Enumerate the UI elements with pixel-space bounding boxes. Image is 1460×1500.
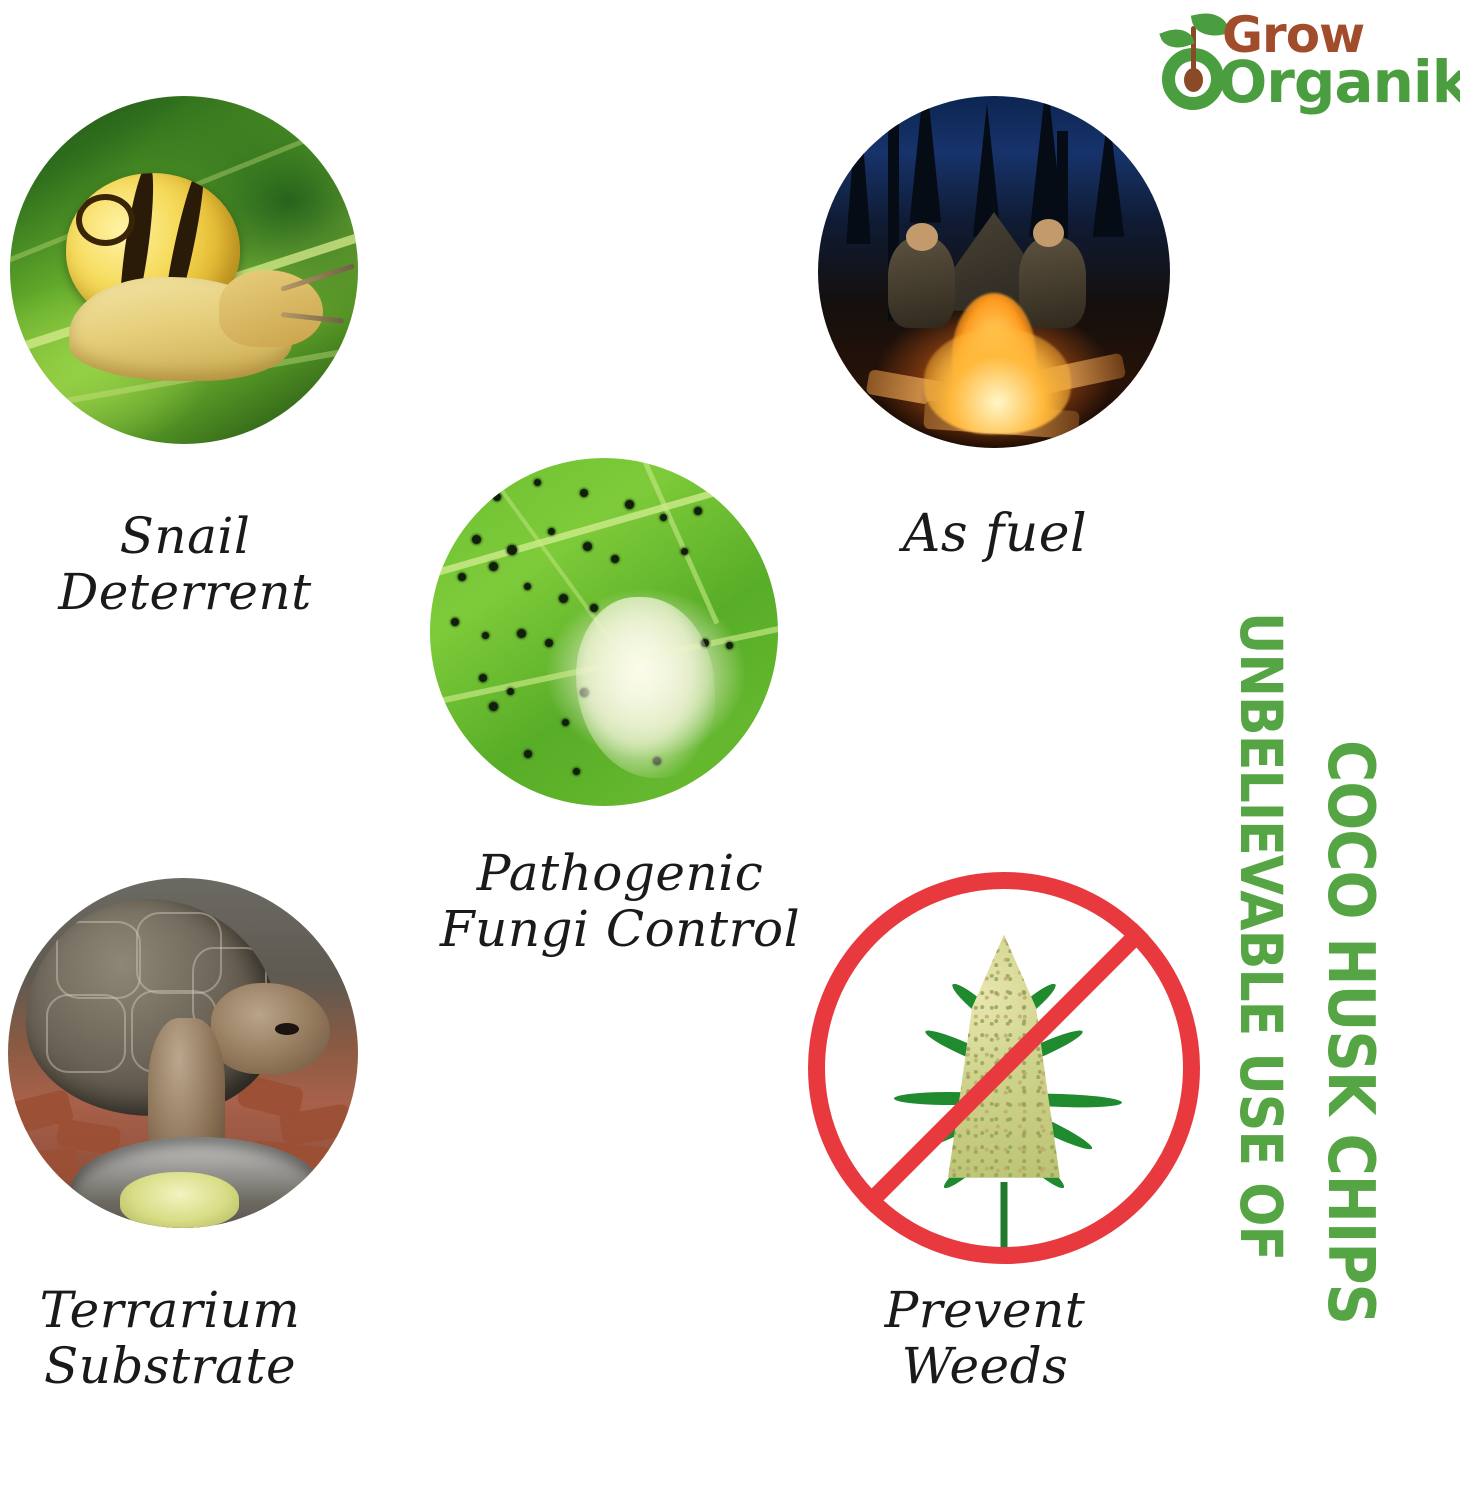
lettuce-food-shape [120,1172,239,1228]
campfire-camping-photo [818,96,1170,448]
tortoise-eye-shape [275,1023,299,1035]
no-weeds-prohibition-icon [808,872,1200,1264]
fungal-spot-shape [517,629,526,638]
fungal-spot-shape [451,618,459,626]
fungal-spot-shape [489,702,498,711]
caption-pathogenic-fungi-control: Pathogenic Fungi Control [420,845,820,957]
tortoise-on-coco-chips-photo [8,878,358,1228]
fungal-spot-shape [493,493,501,501]
infographic-page: { "brand": { "logo_word_1": "Grow", "log… [0,0,1460,1500]
shell-scute-shape [46,994,127,1072]
logo-word-organiks: Organiks [1218,48,1460,116]
banner-line-coco-husk-chips: COCO HUSK CHIPS [1318,740,1382,1324]
camper-head-shape [906,223,938,251]
logo-seed-shape [1184,68,1203,92]
fungal-spot-shape [625,500,634,509]
fungal-spot-shape [559,594,568,603]
fungal-spot-shape [660,514,667,521]
caption-prevent-weeds: Prevent Weeds [820,1282,1150,1394]
fungal-spot-shape [507,545,517,555]
fungal-spot-shape [507,688,514,695]
shell-scute-shape [56,921,142,999]
fungal-spot-shape [580,489,588,497]
fungal-spot-shape [573,768,580,775]
fungal-spot-shape [545,639,553,647]
shell-spiral-shape [76,194,135,246]
banner-line-unbelievable-use-of: UNBELIEVABLE USE OF [1232,612,1290,1260]
caption-terrarium-substrate: Terrarium Substrate [0,1282,340,1394]
brand-logo: Grow Organiks [1160,4,1450,112]
diseased-leaf-fungi-photo [430,458,778,806]
fungal-spot-shape [548,528,555,535]
fungal-spot-shape [583,542,592,551]
caption-snail-deterrent: Snail Deterrent [20,508,350,620]
fungal-spot-shape [479,674,487,682]
camper-person-shape [1019,237,1086,329]
flame-shape [924,328,1072,434]
fungal-spot-shape [472,535,481,544]
fungal-spot-shape [458,573,466,581]
caption-as-fuel: As fuel [840,505,1150,563]
snail-on-leaf-photo [10,96,358,444]
